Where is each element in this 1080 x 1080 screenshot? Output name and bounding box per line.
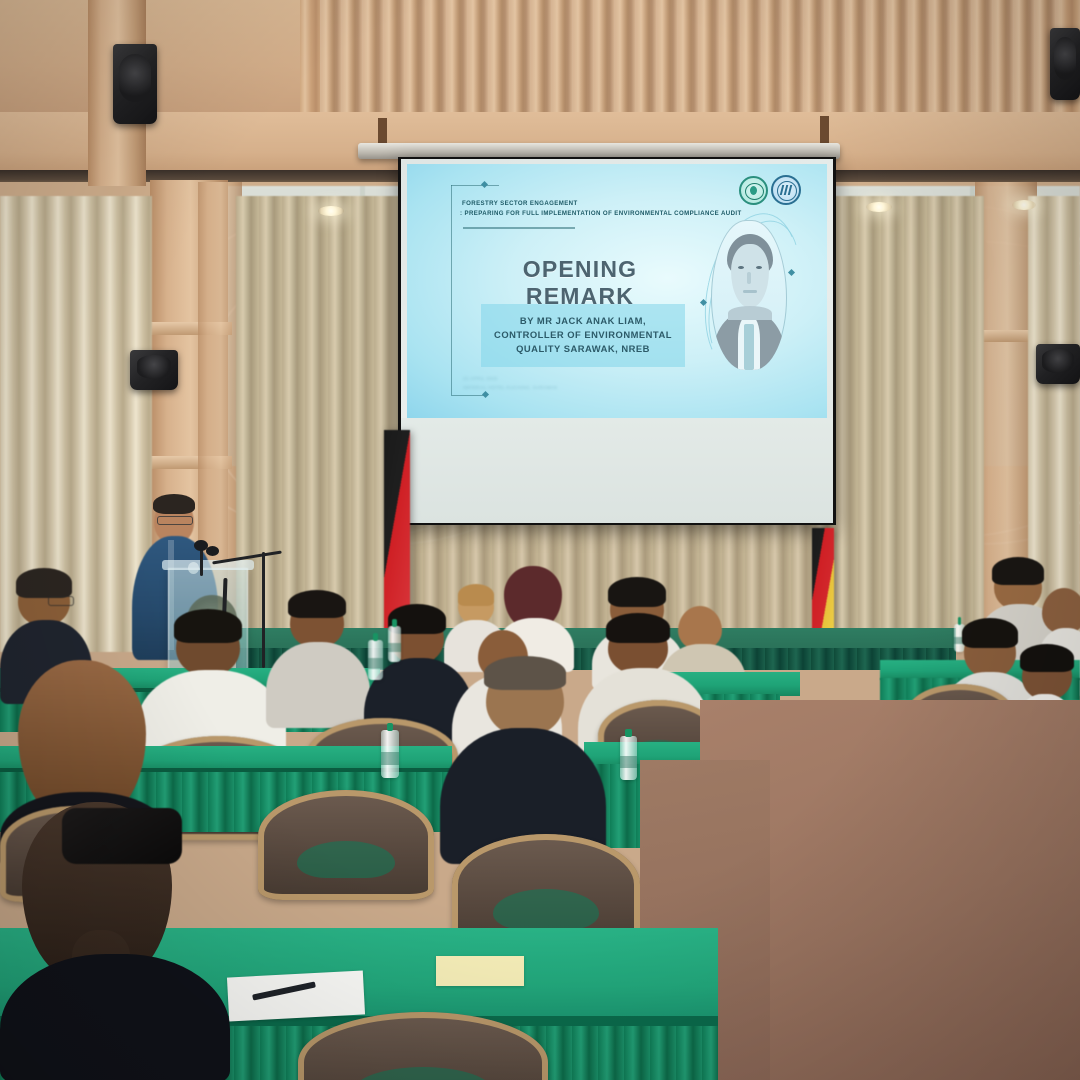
person-hair bbox=[458, 584, 494, 606]
audience-member bbox=[440, 660, 606, 856]
portrait-group bbox=[701, 208, 797, 388]
slide-title: OPENING REMARK bbox=[465, 256, 695, 310]
person-hair bbox=[1020, 644, 1074, 672]
microphone-head-icon bbox=[206, 546, 219, 556]
slide-subtitle-line-1: BY MR JACK ANAK LIAM, bbox=[485, 314, 681, 328]
portrait-mouth bbox=[743, 290, 757, 293]
presenter-glasses-icon bbox=[157, 516, 193, 525]
screen-blank-area bbox=[401, 418, 833, 523]
person-hair bbox=[606, 613, 670, 643]
screen-mount-bracket bbox=[820, 116, 829, 146]
window-curtain-right-inner bbox=[812, 196, 984, 646]
screen-surface: FORESTRY SECTOR ENGAGEMENT : PREPARING F… bbox=[401, 159, 833, 523]
speaker-portrait bbox=[711, 220, 787, 370]
person-hair bbox=[608, 577, 666, 607]
presentation-slide: FORESTRY SECTOR ENGAGEMENT : PREPARING F… bbox=[407, 164, 827, 418]
person-hair bbox=[16, 568, 72, 598]
ceiling-downlight-icon bbox=[866, 202, 892, 212]
podium-top-ledge bbox=[162, 560, 254, 570]
portrait-neck bbox=[728, 306, 772, 320]
banquet-chair bbox=[258, 790, 434, 900]
person-hair bbox=[992, 557, 1044, 585]
slide-subtitle-line-2: CONTROLLER OF ENVIRONMENTAL bbox=[485, 328, 681, 342]
person-hair bbox=[174, 609, 242, 643]
slide-subtitle-line-3: QUALITY SARAWAK, NREB bbox=[485, 342, 681, 356]
banquet-chair bbox=[298, 1012, 548, 1080]
ceiling-downlight-icon bbox=[318, 206, 344, 216]
gooseneck-microphone bbox=[200, 548, 203, 576]
slide-header-line-1: FORESTRY SECTOR ENGAGEMENT bbox=[462, 200, 762, 208]
wall-speaker-icon bbox=[1050, 28, 1080, 100]
wall-speaker-icon bbox=[113, 44, 157, 124]
slide-underline bbox=[463, 227, 575, 229]
presenter-hair bbox=[153, 494, 195, 514]
water-bottle bbox=[388, 626, 401, 662]
slide-footer-line-2: IMPERIAL HOTEL KUCHING, SARAWAK bbox=[463, 385, 558, 392]
water-bottle bbox=[381, 730, 399, 778]
slide-deco-line bbox=[451, 395, 487, 396]
slide-footer-line-1: 22 APRIL 2025 bbox=[463, 376, 498, 383]
audience-member bbox=[266, 594, 370, 724]
ribbed-wood-panel-highlight bbox=[320, 0, 1060, 112]
portrait-nose bbox=[747, 272, 751, 284]
wall-speaker-icon bbox=[130, 350, 178, 390]
sarawak-agency-logo-icon bbox=[771, 175, 801, 205]
yellow-card bbox=[436, 956, 524, 986]
handbag bbox=[62, 808, 182, 864]
projector-screen: FORESTRY SECTOR ENGAGEMENT : PREPARING F… bbox=[398, 157, 836, 525]
wall-speaker-icon bbox=[1036, 344, 1080, 384]
conference-hall-photo: FORESTRY SECTOR ENGAGEMENT : PREPARING F… bbox=[0, 0, 1080, 1080]
ceiling-downlight-icon bbox=[1012, 200, 1036, 210]
person-hair bbox=[288, 590, 346, 618]
slide-subtitle-band: BY MR JACK ANAK LIAM, CONTROLLER OF ENVI… bbox=[481, 304, 685, 367]
slide-diamond-accent bbox=[482, 391, 489, 398]
water-bottle bbox=[620, 736, 637, 780]
person-body bbox=[0, 954, 230, 1080]
person-hair bbox=[484, 656, 566, 690]
slide-deco-line bbox=[451, 185, 452, 395]
water-bottle bbox=[368, 640, 383, 680]
slide-diamond-accent bbox=[481, 181, 488, 188]
person-body bbox=[266, 642, 370, 728]
slide-deco-line bbox=[451, 185, 499, 186]
person-hair bbox=[962, 618, 1018, 648]
person-glasses-icon bbox=[48, 596, 74, 606]
portrait-tie bbox=[744, 324, 754, 370]
nreb-logo-icon bbox=[739, 176, 768, 205]
